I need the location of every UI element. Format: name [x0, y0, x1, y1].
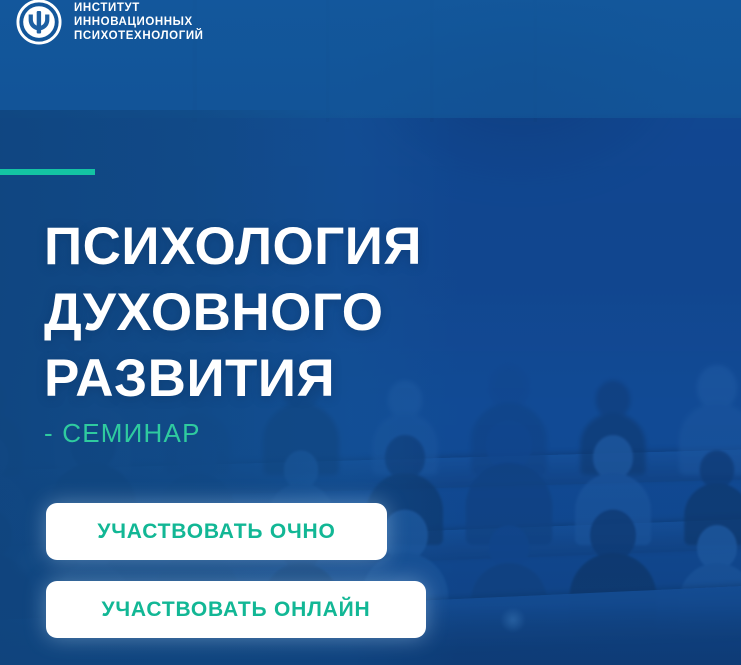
brand-line-2: ИННОВАЦИОННЫХ [74, 15, 204, 29]
participate-offline-button[interactable]: УЧАСТВОВАТЬ ОЧНО [46, 503, 387, 560]
page-title: ПСИХОЛОГИЯ ДУХОВНОГО РАЗВИТИЯ [44, 214, 422, 412]
page-subtitle: - СЕМИНАР [44, 418, 201, 449]
page-title-line-3: РАЗВИТИЯ [44, 346, 422, 412]
hero-banner: ИНСТИТУТ ИННОВАЦИОННЫХ ПСИХОТЕХНОЛОГИЙ П… [0, 0, 741, 665]
accent-rule [0, 169, 95, 175]
cta-group: УЧАСТВОВАТЬ ОЧНО УЧАСТВОВАТЬ ОНЛАЙН [46, 503, 426, 638]
participate-online-button[interactable]: УЧАСТВОВАТЬ ОНЛАЙН [46, 581, 426, 638]
brand-line-3: ПСИХОТЕХНОЛОГИЙ [74, 29, 204, 43]
brand-header[interactable]: ИНСТИТУТ ИННОВАЦИОННЫХ ПСИХОТЕХНОЛОГИЙ [16, 0, 204, 118]
page-title-line-1: ПСИХОЛОГИЯ [44, 214, 422, 280]
psi-circle-logo-icon [16, 0, 62, 45]
page-title-line-2: ДУХОВНОГО [44, 280, 422, 346]
brand-line-1: ИНСТИТУТ [74, 1, 204, 15]
brand-name: ИНСТИТУТ ИННОВАЦИОННЫХ ПСИХОТЕХНОЛОГИЙ [74, 0, 204, 44]
